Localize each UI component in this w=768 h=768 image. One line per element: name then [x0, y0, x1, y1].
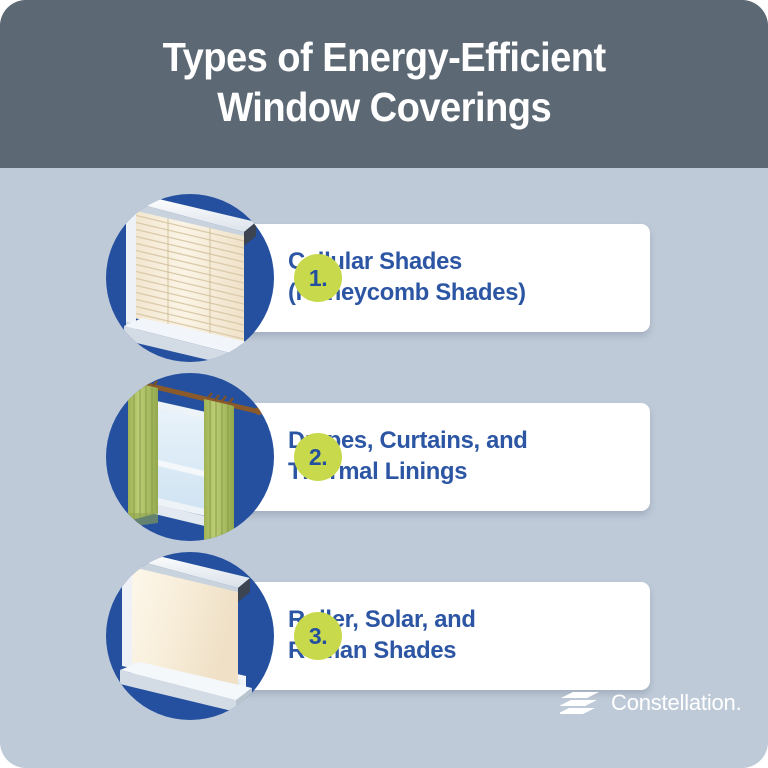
item-icon-circle [106, 373, 274, 541]
list-item[interactable]: Drapes, Curtains, and Thermal Linings [0, 355, 768, 525]
item-number-badge: 1. [294, 254, 342, 302]
item-icon-circle [106, 194, 274, 362]
page-title: Types of Energy-Efficient Window Coverin… [162, 32, 605, 132]
constellation-swoosh-icon [560, 690, 600, 716]
item-number-badge: 2. [294, 433, 342, 481]
header-banner: Types of Energy-Efficient Window Coverin… [0, 0, 768, 168]
brand-logo: Constellation. [560, 690, 742, 716]
item-number-badge: 3. [294, 612, 342, 660]
infographic-canvas: Types of Energy-Efficient Window Coverin… [0, 0, 768, 768]
logo-text: Constellation. [611, 690, 742, 716]
item-icon-circle [106, 552, 274, 720]
list-item[interactable]: Roller, Solar, and Roman Shades [0, 534, 768, 704]
list-item[interactable]: Cellular Shades (Honeycomb Shades) [0, 176, 768, 346]
